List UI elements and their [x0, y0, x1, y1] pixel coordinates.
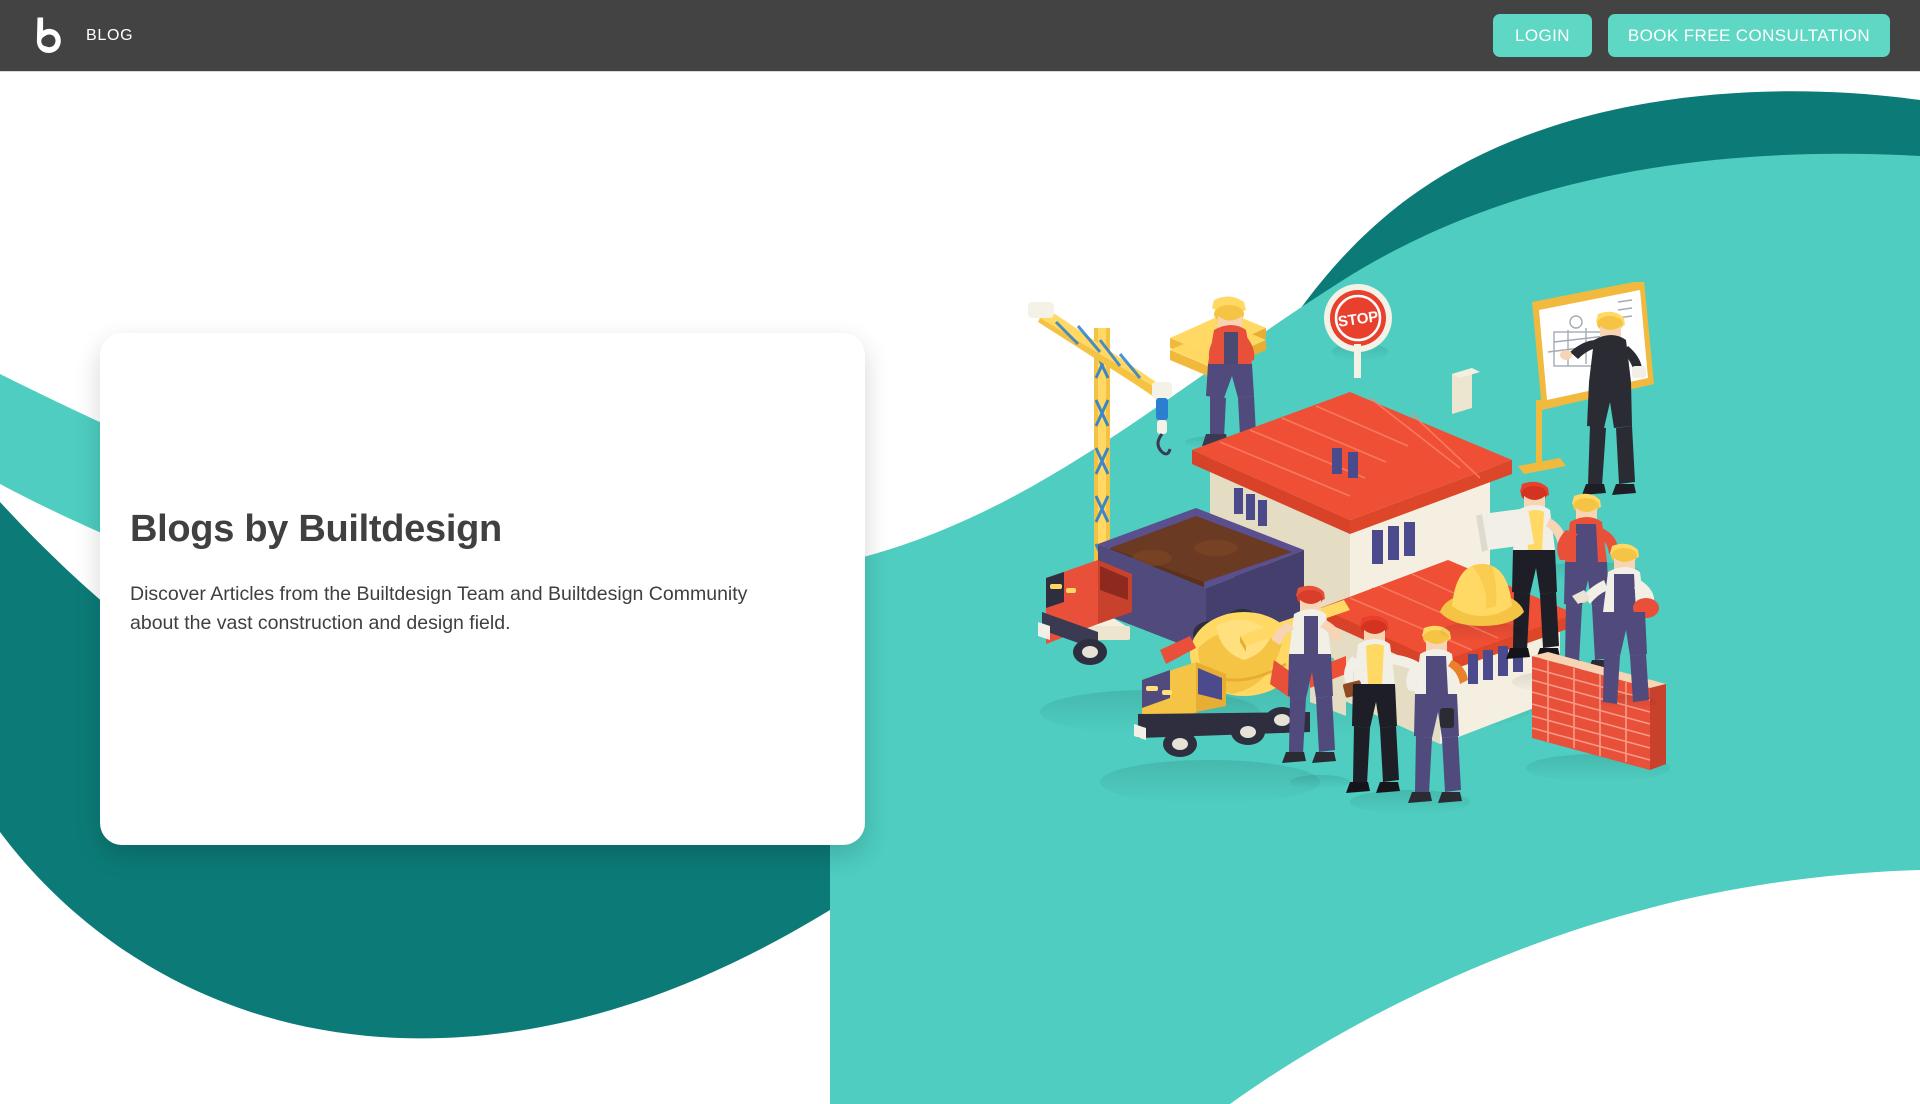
brand-label: BLOG: [86, 28, 133, 44]
hero-text-card: Blogs by Builtdesign Discover Articles f…: [100, 333, 865, 845]
page-subtitle: Discover Articles from the Builtdesign T…: [130, 580, 790, 639]
builtdesign-b-logo-icon[interactable]: [26, 14, 68, 58]
top-navigation-bar: BLOG LOGIN BOOK FREE CONSULTATION: [0, 0, 1920, 72]
login-button[interactable]: LOGIN: [1493, 14, 1592, 57]
brick-wall-icon: [1526, 652, 1670, 782]
page-title: Blogs by Builtdesign: [130, 508, 825, 552]
worker-carrying-planks-icon: [1170, 296, 1266, 448]
header-actions: LOGIN BOOK FREE CONSULTATION: [1493, 14, 1890, 57]
hero-section: Blogs by Builtdesign Discover Articles f…: [0, 72, 1920, 1104]
book-free-consultation-button[interactable]: BOOK FREE CONSULTATION: [1608, 14, 1890, 57]
isometric-construction-site-illustration: STOP: [1020, 282, 1680, 842]
hero-card-body: Blogs by Builtdesign Discover Articles f…: [130, 508, 825, 639]
brand-group[interactable]: BLOG: [26, 14, 133, 58]
stop-sign-icon: STOP: [1324, 284, 1392, 378]
